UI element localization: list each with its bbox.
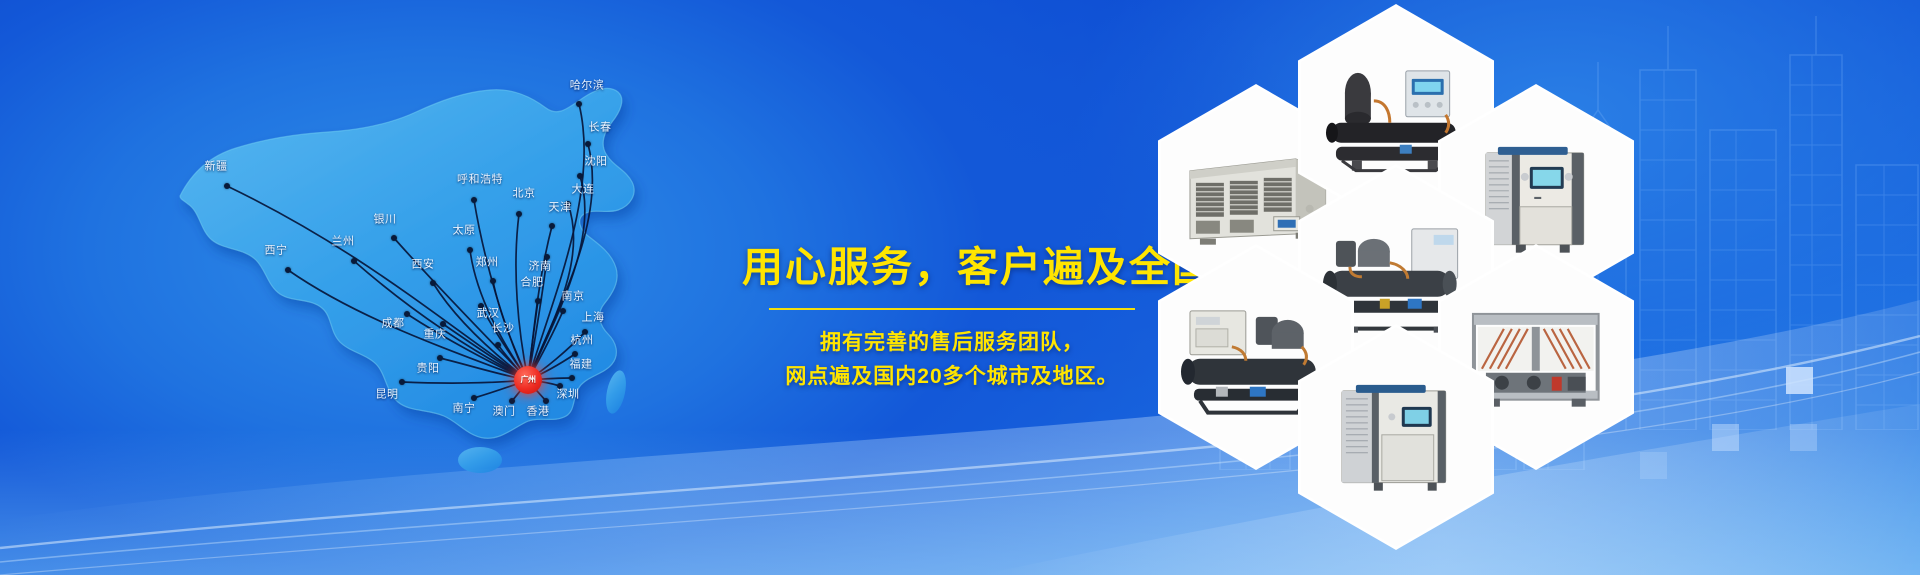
page-title: 用心服务，客户遍及全国 — [742, 245, 1162, 290]
city-dot[interactable] — [569, 375, 575, 381]
city-label: 福建 — [570, 360, 593, 371]
city-dot[interactable] — [399, 379, 405, 385]
city-dot[interactable] — [437, 355, 443, 361]
subtitle-line-2: 网点遍及国内20多个城市及地区。 — [742, 360, 1162, 394]
city-label: 杭州 — [571, 336, 594, 347]
cabinet-chiller-icon — [1316, 351, 1476, 523]
city-label: 南京 — [562, 292, 585, 303]
title-divider — [769, 308, 1135, 310]
product-hex-grid: ▬ — [1150, 0, 1790, 575]
city-dot[interactable] — [224, 183, 230, 189]
city-label: 兰州 — [332, 237, 355, 248]
city-dot[interactable] — [351, 258, 357, 264]
city-label: 天津 — [549, 203, 572, 214]
city-dot[interactable] — [549, 223, 555, 229]
china-distribution-map: 哈尔滨长春沈阳大连呼和浩特北京天津新疆银川太原兰州西宁郑州西安济南合肥南京武汉成… — [60, 20, 740, 565]
city-label: 大连 — [572, 185, 595, 196]
city-dot[interactable] — [495, 342, 501, 348]
city-dot[interactable] — [576, 101, 582, 107]
city-label: 昆明 — [376, 390, 399, 401]
city-label: 西宁 — [265, 246, 288, 257]
city-dot[interactable] — [516, 211, 522, 217]
city-dot[interactable] — [404, 311, 410, 317]
city-label: 银川 — [374, 215, 397, 226]
headline-block: 用心服务，客户遍及全国 拥有完善的售后服务团队， 网点遍及国内20多个城市及地区… — [742, 245, 1162, 394]
city-label: 成都 — [382, 319, 405, 330]
decor-square — [1786, 367, 1813, 394]
city-label: 长沙 — [492, 324, 515, 335]
city-dot[interactable] — [560, 308, 566, 314]
city-label: 澳门 — [493, 407, 516, 418]
subtitle-line-1: 拥有完善的售后服务团队， — [742, 326, 1162, 360]
svg-text:▬: ▬ — [1535, 194, 1542, 201]
city-label: 长春 — [589, 123, 612, 134]
map-shape — [60, 20, 740, 565]
city-label: 上海 — [582, 313, 605, 324]
city-label: 沈阳 — [585, 157, 608, 168]
city-dot[interactable] — [572, 351, 578, 357]
city-label: 济南 — [529, 262, 552, 273]
city-dot[interactable] — [440, 321, 446, 327]
city-dot[interactable] — [585, 141, 591, 147]
city-label: 哈尔滨 — [570, 81, 605, 92]
city-label: 贵阳 — [417, 364, 440, 375]
city-dot[interactable] — [543, 398, 549, 404]
city-label: 合肥 — [521, 278, 544, 289]
city-label: 呼和浩特 — [457, 175, 503, 186]
city-dot[interactable] — [467, 247, 473, 253]
city-label: 北京 — [513, 189, 536, 200]
city-dot[interactable] — [471, 197, 477, 203]
city-label: 郑州 — [476, 258, 499, 269]
city-label: 西安 — [412, 260, 435, 271]
city-label: 武汉 — [477, 309, 500, 320]
city-dot[interactable] — [490, 278, 496, 284]
city-label: 重庆 — [424, 330, 447, 341]
city-dot[interactable] — [535, 298, 541, 304]
city-dot[interactable] — [509, 398, 515, 404]
city-label: 深圳 — [557, 390, 580, 401]
decor-square — [1790, 424, 1817, 451]
city-label: 南宁 — [453, 404, 476, 415]
city-label: 香港 — [527, 407, 550, 418]
city-dot[interactable] — [285, 267, 291, 273]
city-dot[interactable] — [544, 254, 550, 260]
city-dot[interactable] — [577, 173, 583, 179]
hub-label: 广州 — [521, 376, 536, 384]
city-dot[interactable] — [471, 395, 477, 401]
city-label: 太原 — [453, 226, 476, 237]
promo-banner: 哈尔滨长春沈阳大连呼和浩特北京天津新疆银川太原兰州西宁郑州西安济南合肥南京武汉成… — [0, 0, 1920, 575]
city-dot[interactable] — [391, 235, 397, 241]
subtitle-block: 拥有完善的售后服务团队， 网点遍及国内20多个城市及地区。 — [742, 326, 1162, 394]
hub-marker-guangzhou[interactable]: 广州 — [514, 366, 542, 394]
city-dot[interactable] — [430, 280, 436, 286]
city-label: 新疆 — [205, 162, 228, 173]
